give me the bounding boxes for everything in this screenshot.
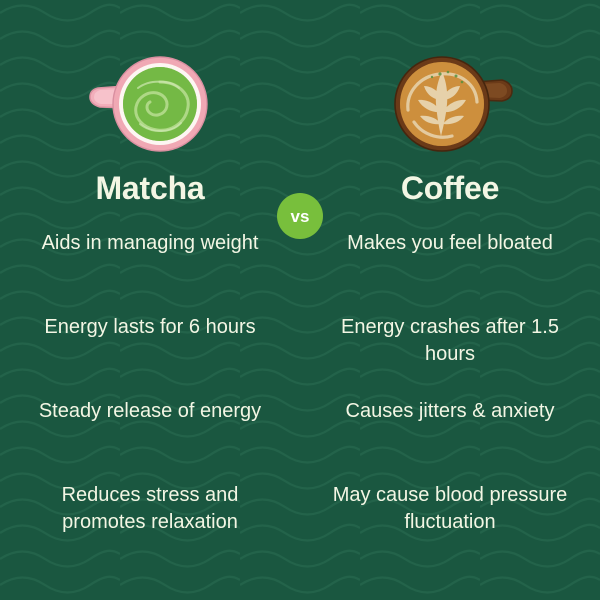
point-item: Steady release of energy (20, 398, 280, 451)
point-text: May cause blood pressure fluctuation (320, 482, 580, 535)
point-text: Energy crashes after 1.5 hours (320, 314, 580, 367)
coffee-cup-icon (380, 52, 520, 160)
matcha-vs-coffee-infographic: Matcha Aids in managing weight Energy la… (0, 0, 600, 600)
coffee-cup-illustration (380, 52, 520, 160)
point-item: Causes jitters & anxiety (320, 398, 580, 451)
point-text: Steady release of energy (20, 398, 280, 425)
product-title-coffee: Coffee (401, 172, 499, 204)
matcha-cup-icon (80, 52, 220, 160)
product-title-matcha: Matcha (95, 172, 204, 204)
point-item: May cause blood pressure fluctuation (320, 482, 580, 535)
column-matcha: Matcha Aids in managing weight Energy la… (0, 0, 300, 600)
point-text: Energy lasts for 6 hours (20, 314, 280, 341)
point-item: Energy crashes after 1.5 hours (320, 314, 580, 367)
point-text: Aids in managing weight (20, 230, 280, 257)
column-coffee: Coffee Makes you feel bloated Energy cra… (300, 0, 600, 600)
point-item: Aids in managing weight (20, 230, 280, 283)
matcha-cup-illustration (80, 52, 220, 160)
points-list-matcha: Aids in managing weight Energy lasts for… (0, 230, 300, 566)
vs-badge: vs (277, 193, 323, 239)
vs-badge-label: vs (291, 208, 310, 225)
point-item: Makes you feel bloated (320, 230, 580, 283)
point-text: Reduces stress and promotes relaxation (20, 482, 280, 535)
comparison-columns: Matcha Aids in managing weight Energy la… (0, 0, 600, 600)
point-text: Makes you feel bloated (320, 230, 580, 257)
point-item: Reduces stress and promotes relaxation (20, 482, 280, 535)
points-list-coffee: Makes you feel bloated Energy crashes af… (300, 230, 600, 566)
point-item: Energy lasts for 6 hours (20, 314, 280, 367)
point-text: Causes jitters & anxiety (320, 398, 580, 425)
